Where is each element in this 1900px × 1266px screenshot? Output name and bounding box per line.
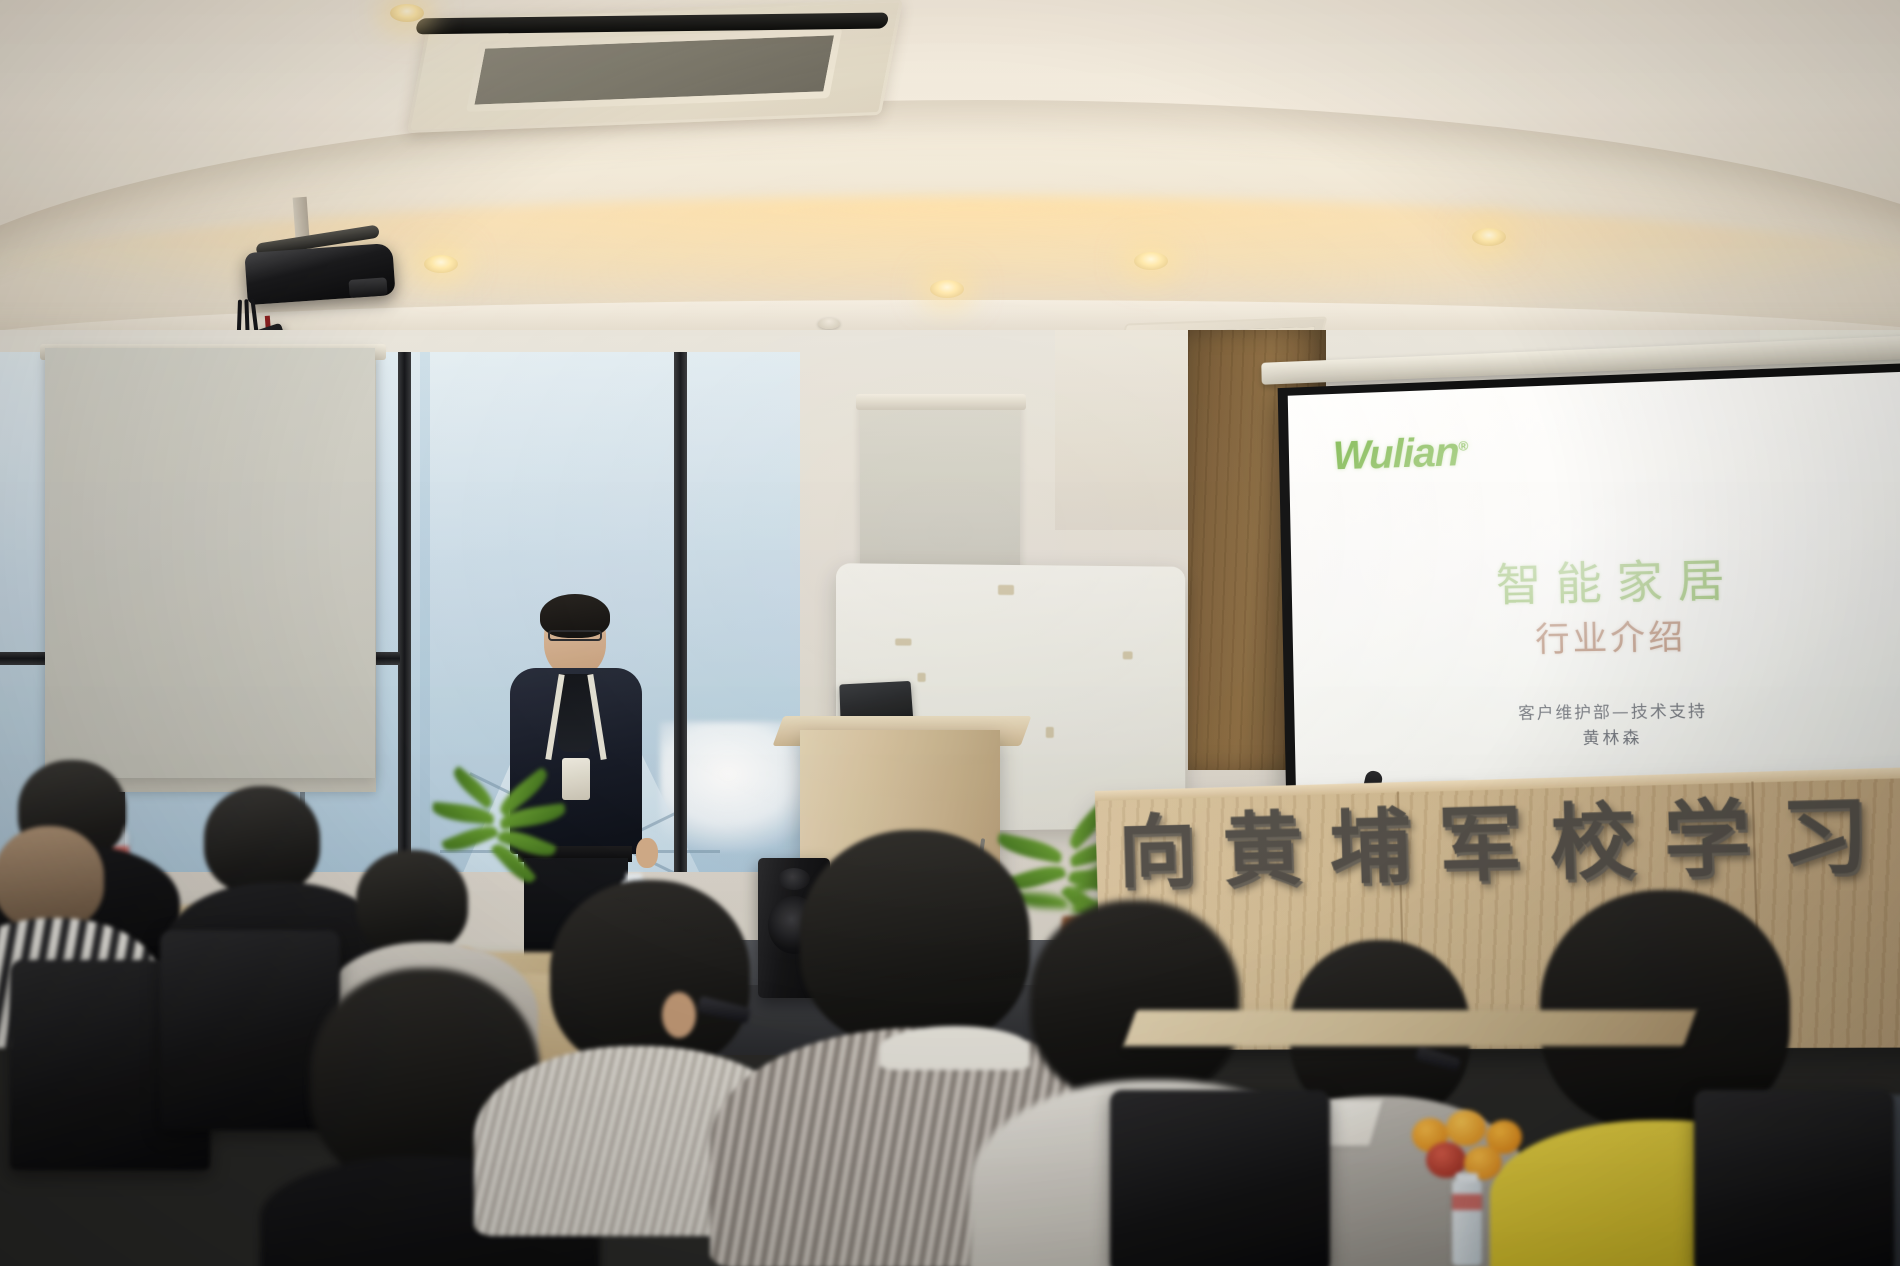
audience-ear — [662, 992, 696, 1038]
signage-glyph: 埔 — [1328, 808, 1412, 890]
audience-desk — [1123, 1010, 1696, 1046]
ceiling-projector — [244, 233, 397, 315]
signage-glyph: 军 — [1437, 805, 1523, 888]
audience-head — [550, 880, 750, 1070]
signage-glyph: 校 — [1549, 802, 1637, 886]
projection-screen: Wulian® 智能家居 行业介绍 客户维护部—技术支持 黄林森 — [1278, 362, 1900, 808]
fruit-bowl — [1412, 1104, 1542, 1182]
downlight-icon — [1134, 252, 1168, 270]
presenter-hand — [636, 838, 658, 868]
signage-glyph: 向 — [1117, 813, 1197, 893]
bottle-label — [1452, 1194, 1482, 1210]
slide-subtitle: 行业介绍 — [1293, 614, 1900, 663]
audience-head — [800, 830, 1030, 1046]
ac-grille — [466, 28, 842, 112]
presentation-slide: Wulian® 智能家居 行业介绍 客户维护部—技术支持 黄林森 — [1288, 370, 1900, 798]
whiteboard-mark — [895, 638, 911, 645]
roller-blind-headrail[interactable] — [856, 394, 1026, 410]
meeting-room-photo: Wulian® 智能家居 行业介绍 客户维护部—技术支持 黄林森 — [0, 0, 1900, 1266]
bottle-cap — [1456, 1173, 1478, 1182]
downlight-icon — [930, 280, 964, 298]
slide-credit: 客户维护部—技术支持 黄林森 — [1294, 696, 1900, 753]
signage-glyph: 学 — [1663, 799, 1752, 884]
window-mullion — [398, 352, 411, 872]
downlight-icon — [390, 4, 424, 22]
ceiling — [0, 0, 1900, 360]
smoke-detector-icon — [818, 318, 840, 329]
presenter-shirt — [558, 674, 592, 752]
downlight-icon — [1472, 228, 1506, 246]
water-bottle[interactable] — [1452, 1180, 1482, 1266]
slide-credit-name: 黄林森 — [1295, 722, 1900, 753]
presenter-glasses-icon — [548, 630, 602, 641]
audience-head — [204, 786, 320, 894]
whiteboard-mark — [998, 585, 1014, 595]
audience-head — [356, 850, 468, 954]
whiteboard-mark — [1046, 727, 1054, 738]
whiteboard-mark — [918, 673, 926, 682]
ceiling-cassette-ac — [407, 0, 903, 133]
audience-head — [1030, 900, 1240, 1100]
wall-segment — [1055, 330, 1195, 530]
blank-projection-screen — [45, 348, 375, 778]
projector-lens-icon — [348, 277, 387, 298]
downlight-icon — [424, 255, 458, 273]
signage-text: 向 黄 埔 军 校 学 习 — [1117, 793, 1900, 894]
signage-glyph: 黄 — [1222, 811, 1304, 892]
wulian-logo-text: Wulian — [1332, 430, 1459, 479]
window-mullion — [674, 352, 687, 872]
wulian-logo: Wulian® — [1332, 431, 1467, 476]
trademark-icon: ® — [1458, 438, 1467, 454]
audience-head — [0, 826, 104, 930]
screen-border: Wulian® 智能家居 行业介绍 客户维护部—技术支持 黄林森 — [1278, 362, 1900, 808]
orange-fruit — [1446, 1110, 1486, 1146]
office-chair[interactable] — [1110, 1090, 1330, 1266]
slide-title: 智能家居 — [1291, 552, 1900, 614]
whiteboard-mark — [1123, 651, 1133, 659]
office-chair[interactable] — [1694, 1090, 1894, 1266]
slide-credit-dept: 客户维护部—技术支持 — [1518, 701, 1707, 723]
signage-glyph: 习 — [1779, 795, 1870, 881]
